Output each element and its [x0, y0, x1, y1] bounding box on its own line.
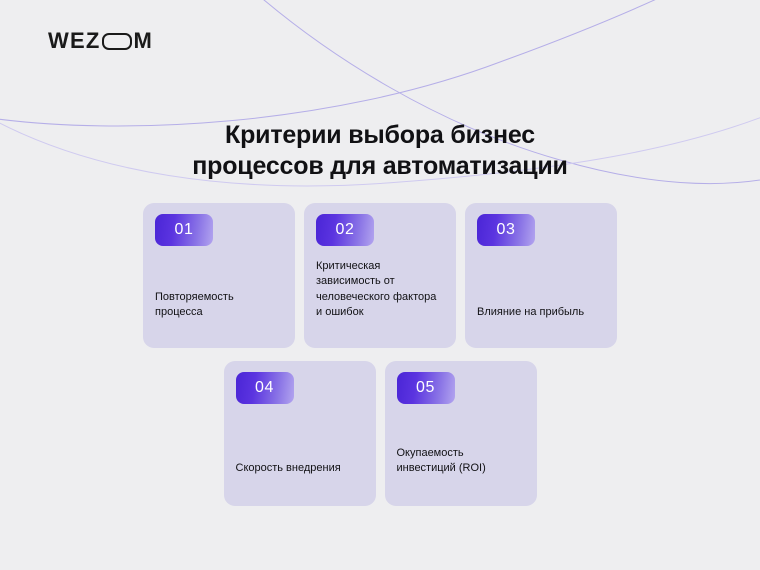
criteria-card-02[interactable]: 02 Критическая зависимость от человеческ…	[304, 203, 456, 348]
card-spacer	[477, 246, 605, 305]
logo-text-part2: M	[133, 30, 153, 52]
criteria-cards: 01 Повторяемость процесса 02 Критическая…	[0, 203, 760, 506]
card-number-badge: 04	[236, 372, 294, 404]
card-number-badge: 03	[477, 214, 535, 246]
criteria-card-01[interactable]: 01 Повторяемость процесса	[143, 203, 295, 348]
card-row-bottom: 04 Скорость внедрения 05 Окупаемость инв…	[0, 361, 760, 506]
page-title-line-2: процессов для автоматизации	[0, 151, 760, 183]
card-number-badge: 02	[316, 214, 374, 246]
card-label: Критическая зависимость от человеческого…	[316, 259, 444, 334]
card-number-badge: 01	[155, 214, 213, 246]
card-label: Влияние на прибыль	[477, 305, 605, 334]
card-spacer	[316, 246, 444, 259]
logo-o-icon	[102, 33, 132, 50]
criteria-card-05[interactable]: 05 Окупаемость инвестиций (ROI)	[385, 361, 537, 506]
logo-text: WEZ M	[48, 30, 153, 52]
wezom-logo[interactable]: WEZ M	[48, 30, 153, 52]
page-title-line-1: Критерии выбора бизнес	[0, 120, 760, 152]
card-label: Повторяемость процесса	[155, 290, 283, 334]
card-spacer	[155, 246, 283, 290]
criteria-card-03[interactable]: 03 Влияние на прибыль	[465, 203, 617, 348]
card-row-top: 01 Повторяемость процесса 02 Критическая…	[0, 203, 760, 348]
card-spacer	[236, 404, 364, 461]
card-label: Скорость внедрения	[236, 461, 364, 492]
page-title: Критерии выбора бизнес процессов для авт…	[0, 120, 760, 183]
card-label: Окупаемость инвестиций (ROI)	[397, 446, 525, 492]
criteria-card-04[interactable]: 04 Скорость внедрения	[224, 361, 376, 506]
card-spacer	[397, 404, 525, 446]
card-number-badge: 05	[397, 372, 455, 404]
curve-sweep-left	[0, 0, 745, 126]
logo-text-part1: WEZ	[48, 30, 100, 52]
